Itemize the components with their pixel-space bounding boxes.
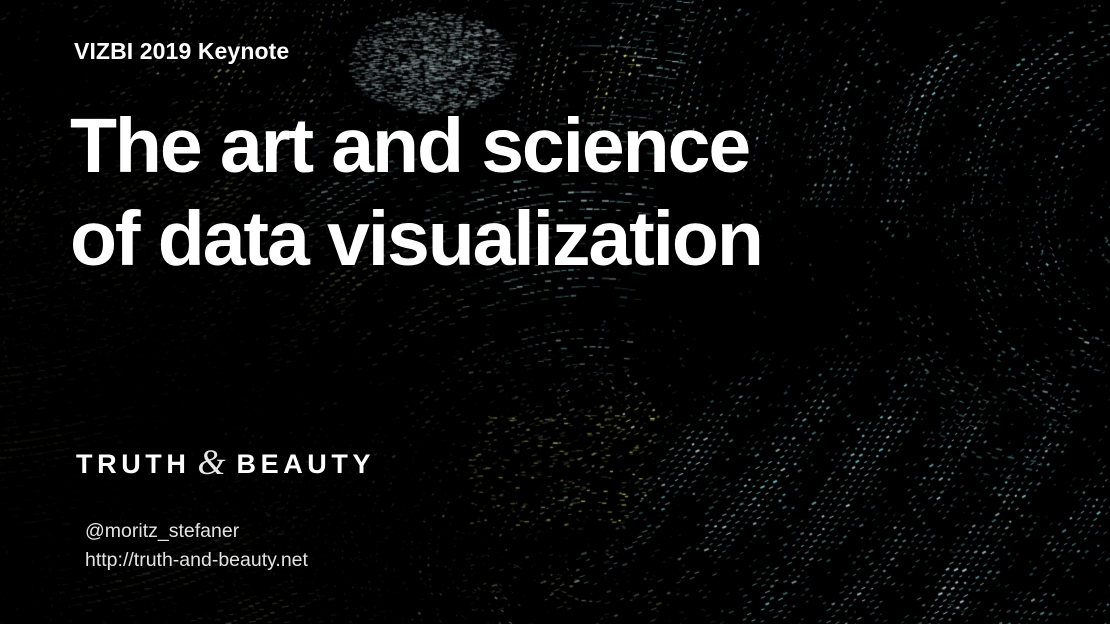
- twitter-handle: @moritz_stefaner: [85, 517, 308, 546]
- title-line-2: of data visualization: [70, 193, 762, 286]
- truth-and-beauty-logo: TRUTH & BEAUTY: [76, 440, 375, 482]
- slide-content: VIZBI 2019 Keynote The art and science o…: [0, 0, 1110, 624]
- ampersand-glyph: &: [190, 441, 236, 483]
- footer-contact: @moritz_stefaner http://truth-and-beauty…: [85, 517, 308, 575]
- logo-word-beauty: BEAUTY: [237, 449, 376, 480]
- eyebrow-label: VIZBI 2019 Keynote: [74, 38, 289, 65]
- logo-word-truth: TRUTH: [76, 449, 190, 480]
- title-line-1: The art and science: [70, 100, 762, 193]
- title-slide: VIZBI 2019 Keynote The art and science o…: [0, 0, 1110, 624]
- page-title: The art and science of data visualizatio…: [70, 100, 762, 286]
- website-url: http://truth-and-beauty.net: [85, 546, 308, 575]
